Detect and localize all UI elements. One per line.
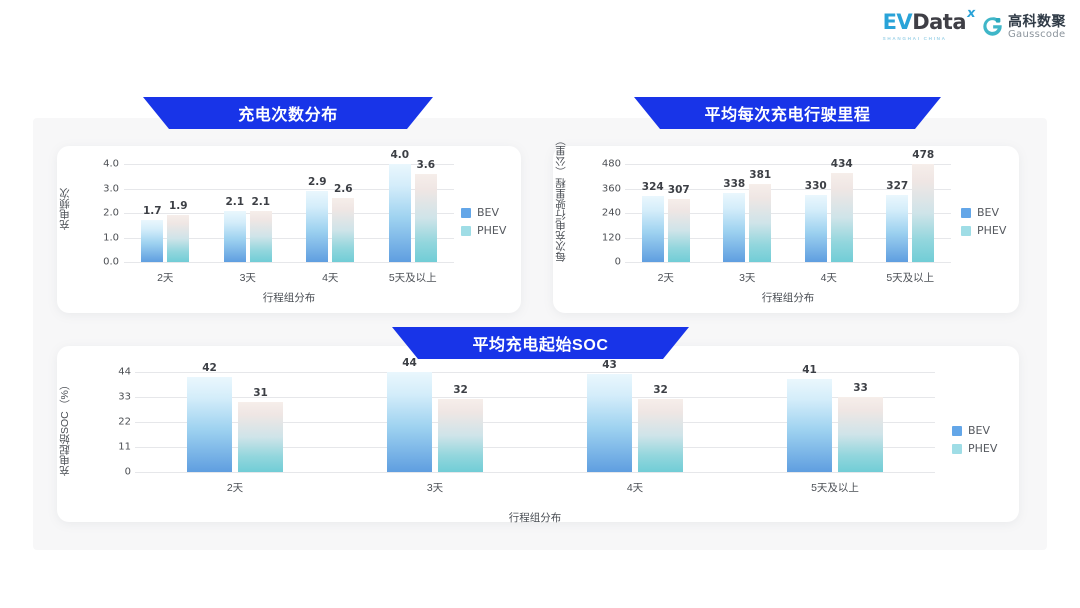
- evdata-logo-icon: EVData x: [883, 12, 966, 33]
- y-axis-tick: 33: [67, 392, 131, 403]
- legend-swatch-icon: [461, 208, 471, 218]
- bar-value-label: 338: [723, 178, 745, 190]
- bar-value-label: 4.0: [390, 149, 409, 161]
- x-axis-title: 行程组分布: [124, 290, 454, 305]
- banner-soc: 平均充电起始SOC: [392, 327, 689, 359]
- evdata-prefix: EV: [883, 10, 913, 34]
- chart-legend: BEVPHEV: [952, 424, 997, 455]
- gridline: [135, 472, 935, 473]
- x-axis-tick: 2天: [157, 270, 173, 285]
- x-axis-tick: 5天及以上: [389, 270, 437, 285]
- bar-bev-3: [389, 164, 411, 262]
- legend-swatch-icon: [961, 226, 971, 236]
- y-axis-tick: 22: [67, 417, 131, 428]
- legend-swatch-icon: [952, 426, 962, 436]
- bar-value-label: 478: [912, 149, 934, 161]
- bar-value-label: 41: [802, 364, 817, 376]
- bar-phev-0: [167, 215, 189, 262]
- legend-label: BEV: [977, 206, 999, 219]
- bar-value-label: 44: [402, 357, 417, 369]
- chart-soc: 充电起始SOC（%）42314432433241330112233442天3天4…: [57, 358, 1023, 528]
- y-axis-tick: 2.0: [63, 208, 119, 219]
- bar-bev-2: [805, 195, 827, 262]
- y-axis-title-line2: （公里）: [555, 135, 567, 177]
- x-axis-tick: 3天: [427, 480, 443, 495]
- bar-value-label: 330: [805, 180, 827, 192]
- x-axis-tick: 3天: [240, 270, 256, 285]
- y-axis-tick: 3.0: [63, 183, 119, 194]
- bar-value-label: 43: [602, 359, 617, 371]
- y-axis-tick: 360: [563, 183, 621, 194]
- bar-value-label: 434: [831, 158, 853, 170]
- bar-phev-1: [749, 184, 771, 262]
- legend-item-phev[interactable]: PHEV: [461, 224, 506, 237]
- legend-label: PHEV: [977, 224, 1006, 237]
- legend-item-bev[interactable]: BEV: [961, 206, 1006, 219]
- plot-area: 324307338381330434327478: [625, 164, 951, 262]
- x-axis-tick: 5天及以上: [886, 270, 934, 285]
- x-axis-tick: 2天: [227, 480, 243, 495]
- bar-value-label: 32: [453, 384, 468, 396]
- gausscode-logo-icon: [982, 16, 1003, 37]
- legend-item-bev[interactable]: BEV: [461, 206, 506, 219]
- x-axis-tick: 4天: [322, 270, 338, 285]
- bar-bev-0: [642, 196, 664, 262]
- y-axis-tick: 240: [563, 208, 621, 219]
- bar-bev-3: [787, 379, 832, 472]
- bar-value-label: 327: [886, 180, 908, 192]
- y-axis-tick: 0: [67, 467, 131, 478]
- bar-value-label: 324: [642, 181, 664, 193]
- bar-bev-1: [224, 211, 246, 262]
- bar-bev-1: [387, 372, 432, 472]
- bar-bev-0: [187, 377, 232, 472]
- gridline: [625, 164, 951, 165]
- bar-value-label: 31: [253, 387, 268, 399]
- bar-value-label: 32: [653, 384, 668, 396]
- y-axis-tick: 11: [67, 442, 131, 453]
- legend-label: BEV: [968, 424, 990, 437]
- bar-value-label: 1.7: [143, 205, 162, 217]
- banner-charge-count: 充电次数分布: [143, 97, 433, 129]
- bar-phev-2: [638, 399, 683, 472]
- bar-value-label: 33: [853, 382, 868, 394]
- bar-phev-2: [831, 173, 853, 262]
- bar-phev-3: [838, 397, 883, 472]
- y-axis-tick: 44: [67, 367, 131, 378]
- y-axis-tick: 1.0: [63, 232, 119, 243]
- chart-legend: BEVPHEV: [461, 206, 506, 237]
- bar-bev-3: [886, 195, 908, 262]
- x-axis-tick: 5天及以上: [811, 480, 859, 495]
- legend-item-phev[interactable]: PHEV: [961, 224, 1006, 237]
- bar-value-label: 381: [749, 169, 771, 181]
- evdata-tagline: SHANGHAI CHINA: [883, 36, 947, 41]
- bar-value-label: 3.6: [416, 159, 435, 171]
- bar-phev-3: [415, 174, 437, 262]
- evdata-x-mark: x: [966, 7, 976, 20]
- x-axis-tick: 4天: [821, 270, 837, 285]
- y-axis-tick: 0.0: [63, 257, 119, 268]
- evdata-logo: EVData x SHANGHAI CHINA: [883, 12, 966, 41]
- x-axis-title: 行程组分布: [135, 510, 935, 525]
- bar-phev-3: [912, 164, 934, 262]
- legend-label: PHEV: [477, 224, 506, 237]
- y-axis-tick: 0: [563, 257, 621, 268]
- plot-area: 1.71.92.12.12.92.64.03.6: [124, 164, 454, 262]
- evdata-suffix: Data: [912, 10, 966, 34]
- chart-mileage: 每次充电行驶里程（公里）3243073383813304343274780120…: [553, 150, 1023, 305]
- x-axis-title: 行程组分布: [625, 290, 951, 305]
- bar-value-label: 2.9: [308, 176, 327, 188]
- bar-phev-0: [238, 402, 283, 472]
- x-axis-tick: 2天: [658, 270, 674, 285]
- bar-bev-2: [587, 374, 632, 472]
- legend-label: BEV: [477, 206, 499, 219]
- legend-swatch-icon: [952, 444, 962, 454]
- x-axis-tick: 3天: [739, 270, 755, 285]
- bar-value-label: 307: [668, 184, 690, 196]
- gausscode-wordmark: 高科数聚 Gausscode: [1008, 14, 1066, 40]
- chart-legend: BEVPHEV: [961, 206, 1006, 237]
- gausscode-en: Gausscode: [1008, 30, 1066, 40]
- header-logo-bar: EVData x SHANGHAI CHINA 高科数聚 Gausscode: [883, 12, 1066, 41]
- gridline: [625, 262, 951, 263]
- chart-charge-count: 充电频次1.71.92.12.12.92.64.03.60.01.02.03.0…: [57, 150, 527, 305]
- bar-phev-0: [668, 199, 690, 262]
- gausscode-cn: 高科数聚: [1008, 14, 1066, 28]
- x-axis-tick: 4天: [627, 480, 643, 495]
- gridline: [124, 262, 454, 263]
- bar-value-label: 1.9: [169, 200, 188, 212]
- y-axis-tick: 4.0: [63, 159, 119, 170]
- y-axis-tick: 480: [563, 159, 621, 170]
- plot-area: 4231443243324133: [135, 372, 935, 472]
- legend-item-phev[interactable]: PHEV: [952, 442, 997, 455]
- bar-value-label: 2.1: [251, 196, 270, 208]
- bar-bev-0: [141, 220, 163, 262]
- legend-swatch-icon: [461, 226, 471, 236]
- gausscode-logo: 高科数聚 Gausscode: [982, 14, 1066, 40]
- legend-label: PHEV: [968, 442, 997, 455]
- bar-bev-1: [723, 193, 745, 262]
- legend-swatch-icon: [961, 208, 971, 218]
- banner-mileage: 平均每次充电行驶里程: [634, 97, 941, 129]
- y-axis-tick: 120: [563, 232, 621, 243]
- bar-value-label: 2.1: [225, 196, 244, 208]
- bar-bev-2: [306, 191, 328, 262]
- bar-value-label: 42: [202, 362, 217, 374]
- legend-item-bev[interactable]: BEV: [952, 424, 997, 437]
- bar-value-label: 2.6: [334, 183, 353, 195]
- bar-phev-1: [250, 211, 272, 262]
- bar-phev-2: [332, 198, 354, 262]
- bar-phev-1: [438, 399, 483, 472]
